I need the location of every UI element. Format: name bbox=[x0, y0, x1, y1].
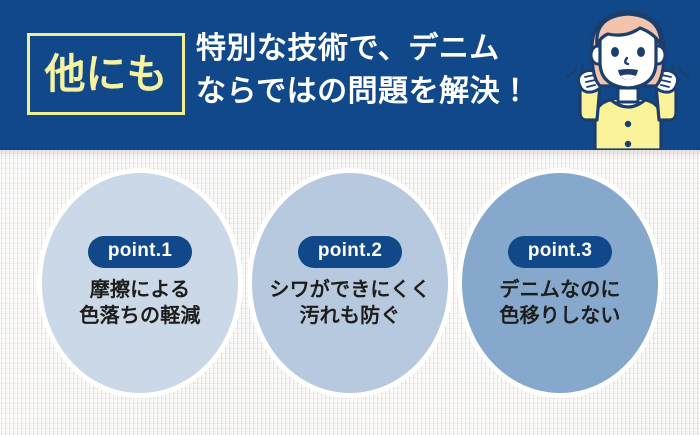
cheering-woman-illustration bbox=[556, 0, 700, 150]
point-text-2-line-1: シワができにくく bbox=[269, 277, 430, 303]
point-badge-1: point.1 bbox=[88, 236, 192, 268]
shirt-button-top bbox=[625, 121, 631, 127]
points-row: point.1 摩擦による 色落ちの軽減 point.2 シワができにくく 汚れ… bbox=[0, 160, 700, 422]
eye-right bbox=[637, 47, 645, 57]
point-text-2: シワができにくく 汚れも防ぐ bbox=[269, 277, 430, 330]
illustration-figure bbox=[566, 12, 689, 150]
headline-badge-label: 他にも bbox=[45, 54, 168, 95]
promo-banner: 他にも 特別な技術で、デニム ならではの問題を解決！ bbox=[0, 0, 700, 435]
headline-line-2: ならではの問題を解決！ bbox=[196, 71, 556, 114]
point-text-1-line-2: 色落ちの軽減 bbox=[79, 303, 200, 329]
header-band: 他にも 特別な技術で、デニム ならではの問題を解決！ bbox=[0, 0, 700, 150]
fabric-top-shadow bbox=[0, 150, 700, 158]
eye-left bbox=[611, 47, 619, 57]
point-circle-2: point.2 シワができにくく 汚れも防ぐ bbox=[247, 168, 453, 398]
headline-line-1: 特別な技術で、デニム bbox=[196, 28, 556, 71]
point-text-3: デニムなのに 色移りしない bbox=[499, 277, 620, 330]
point-text-3-line-1: デニムなのに bbox=[499, 277, 620, 303]
point-text-1: 摩擦による 色落ちの軽減 bbox=[79, 277, 200, 330]
point-text-1-line-1: 摩擦による bbox=[79, 277, 200, 303]
point-badge-3: point.3 bbox=[508, 236, 612, 268]
neck bbox=[618, 88, 638, 102]
point-circle-3: point.3 デニムなのに 色移りしない bbox=[457, 168, 663, 398]
shirt-button-bottom bbox=[625, 141, 631, 147]
point-text-2-line-2: 汚れも防ぐ bbox=[269, 303, 430, 329]
headline-badge: 他にも bbox=[27, 33, 185, 115]
point-circle-1: point.1 摩擦による 色落ちの軽減 bbox=[37, 168, 243, 398]
page-title: 特別な技術で、デニム ならではの問題を解決！ bbox=[196, 28, 556, 113]
point-badge-2: point.2 bbox=[298, 236, 402, 268]
point-text-3-line-2: 色移りしない bbox=[499, 303, 620, 329]
